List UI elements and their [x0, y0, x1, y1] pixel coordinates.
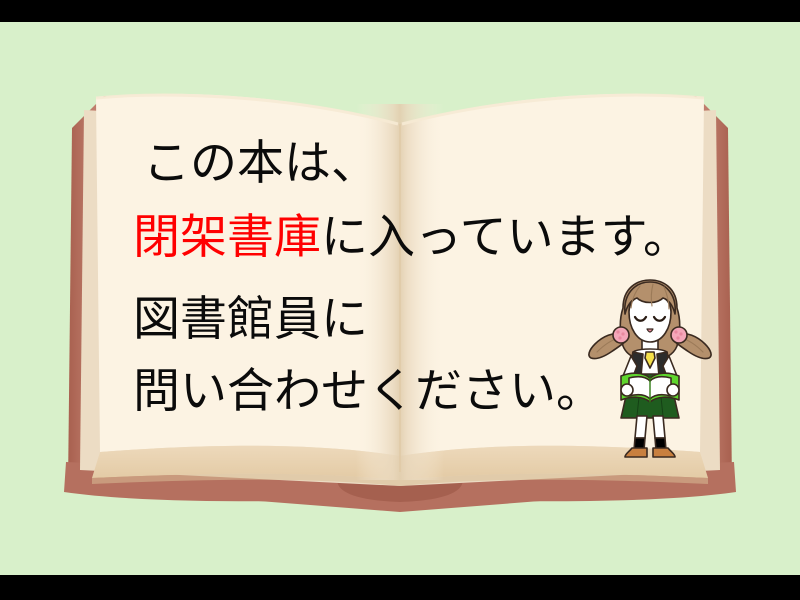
book-page-left — [96, 94, 400, 456]
hand-left — [621, 384, 633, 396]
letterbox-bottom — [0, 575, 800, 600]
shoe-left — [625, 448, 647, 457]
notice-image: この本は、 閉架書庫に入っています。 図書館員に 問い合わせください。 — [0, 0, 800, 600]
letterbox-top — [0, 0, 800, 22]
hand-right — [667, 384, 679, 396]
hair-tie-right — [671, 327, 687, 343]
leg-left — [635, 416, 647, 438]
shoe-right — [653, 448, 675, 457]
girl-reading-icon — [585, 272, 715, 462]
hair-tie-left — [613, 327, 629, 343]
leg-right — [653, 416, 665, 438]
